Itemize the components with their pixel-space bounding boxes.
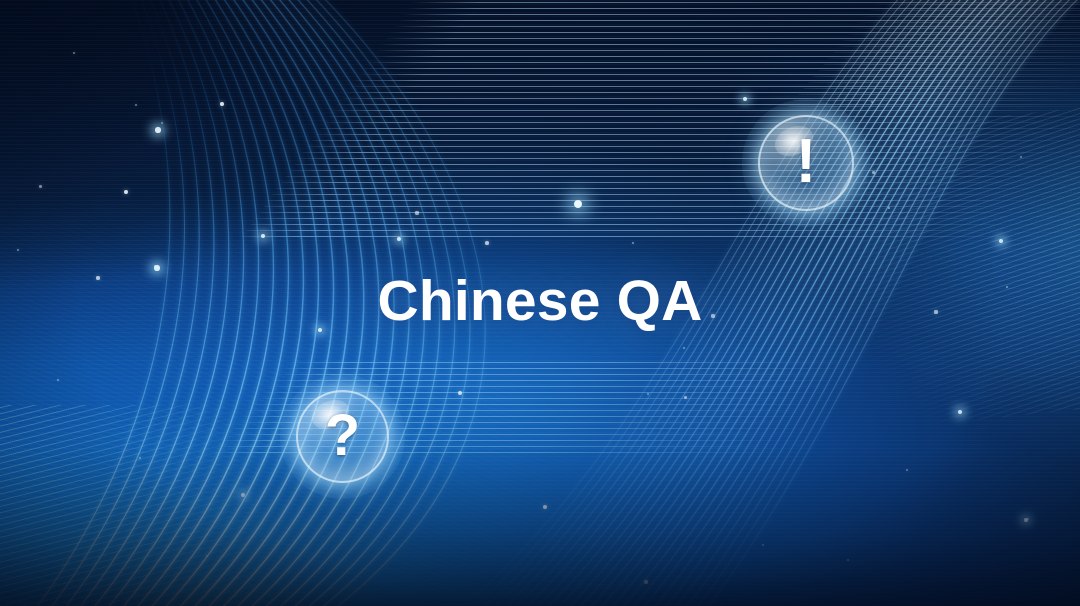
page-title: Chinese QA xyxy=(0,268,1080,334)
slide-canvas: ! ? Chinese QA xyxy=(0,0,1080,606)
exclamation-mark-icon: ! xyxy=(758,115,854,211)
question-glyph: ? xyxy=(325,407,360,465)
exclamation-glyph: ! xyxy=(796,131,817,193)
question-mark-icon: ? xyxy=(296,390,389,483)
